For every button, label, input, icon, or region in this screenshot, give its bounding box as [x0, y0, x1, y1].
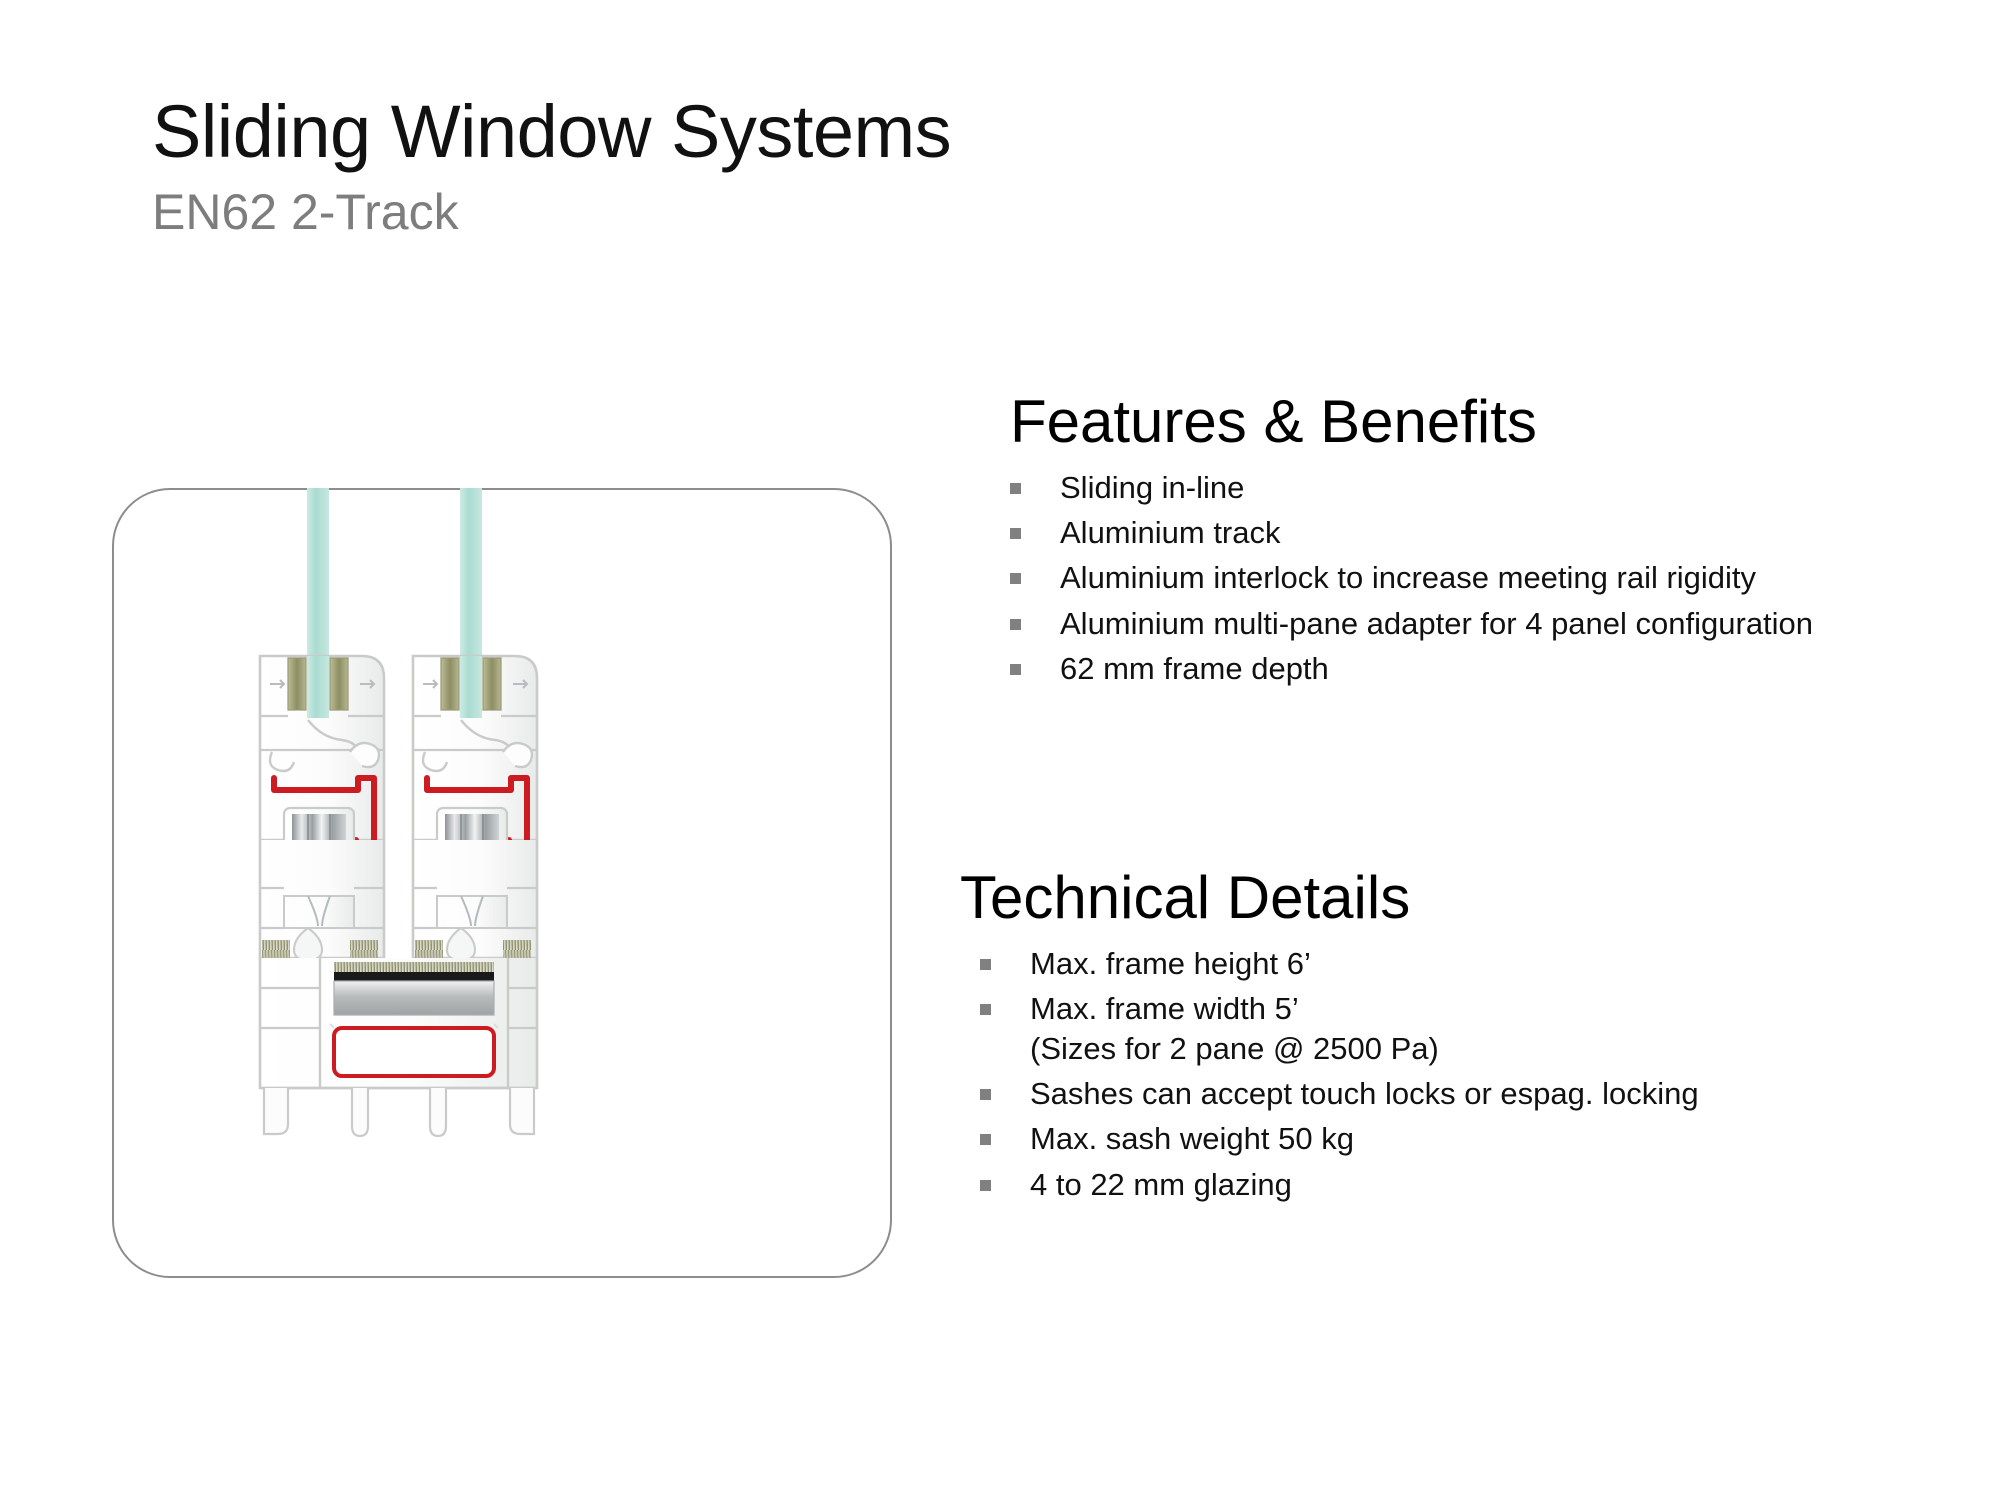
- bullet-square-icon: [1010, 664, 1021, 675]
- sash-assembly-right: [413, 656, 537, 962]
- bullet-square-icon: [980, 1089, 991, 1100]
- bullet-square-icon: [1010, 483, 1021, 494]
- list-item-label: Aluminium multi-pane adapter for 4 panel…: [1060, 606, 1813, 641]
- features-benefits-list: Sliding in-line Aluminium track Aluminiu…: [972, 468, 1880, 689]
- bullet-square-icon: [980, 959, 991, 970]
- bullet-square-icon: [980, 1180, 991, 1191]
- list-item: Aluminium track: [972, 513, 1880, 552]
- page-subtitle: EN62 2-Track: [152, 187, 951, 237]
- title-block: Sliding Window Systems EN62 2-Track: [152, 95, 951, 237]
- sash-assembly-left: [260, 656, 384, 962]
- list-item-label: Sliding in-line: [1060, 470, 1244, 505]
- list-item: Sliding in-line: [972, 468, 1880, 507]
- list-item-label: Aluminium interlock to increase meeting …: [1060, 560, 1756, 595]
- list-item-label: 62 mm frame depth: [1060, 651, 1329, 686]
- bullet-square-icon: [1010, 528, 1021, 539]
- list-item: Sashes can accept touch locks or espag. …: [942, 1074, 1880, 1113]
- bullet-square-icon: [1010, 573, 1021, 584]
- window-profile-cross-section: [112, 488, 892, 1278]
- outer-frame-sill: [260, 958, 537, 1136]
- list-item: Aluminium interlock to increase meeting …: [972, 558, 1880, 597]
- list-item-label: 4 to 22 mm glazing: [1030, 1167, 1292, 1202]
- bullet-square-icon: [1010, 619, 1021, 630]
- page-title: Sliding Window Systems: [152, 95, 951, 169]
- list-item: 4 to 22 mm glazing: [942, 1165, 1880, 1204]
- bullet-square-icon: [980, 1134, 991, 1145]
- list-item-label: Max. sash weight 50 kg: [1030, 1121, 1354, 1156]
- list-item: Aluminium multi-pane adapter for 4 panel…: [972, 604, 1880, 643]
- technical-details-heading: Technical Details: [960, 866, 1880, 930]
- list-item: Max. frame width 5’ (Sizes for 2 pane @ …: [942, 989, 1880, 1068]
- technical-details-list: Max. frame height 6’ Max. frame width 5’…: [942, 944, 1880, 1204]
- list-item-sublabel: (Sizes for 2 pane @ 2500 Pa): [1030, 1029, 1880, 1068]
- bullet-square-icon: [980, 1004, 991, 1015]
- list-item: Max. frame height 6’: [942, 944, 1880, 983]
- technical-details-section: Technical Details Max. frame height 6’ M…: [960, 866, 1880, 1204]
- list-item-label: Aluminium track: [1060, 515, 1281, 550]
- list-item: Max. sash weight 50 kg: [942, 1119, 1880, 1158]
- list-item-label: Max. frame height 6’: [1030, 946, 1311, 981]
- list-item: 62 mm frame depth: [972, 649, 1880, 688]
- list-item-label: Sashes can accept touch locks or espag. …: [1030, 1076, 1699, 1111]
- features-benefits-section: Features & Benefits Sliding in-line Alum…: [960, 390, 1880, 688]
- features-benefits-heading: Features & Benefits: [1010, 390, 1880, 454]
- content-column: Features & Benefits Sliding in-line Alum…: [960, 390, 1880, 1210]
- list-item-label: Max. frame width 5’: [1030, 991, 1299, 1026]
